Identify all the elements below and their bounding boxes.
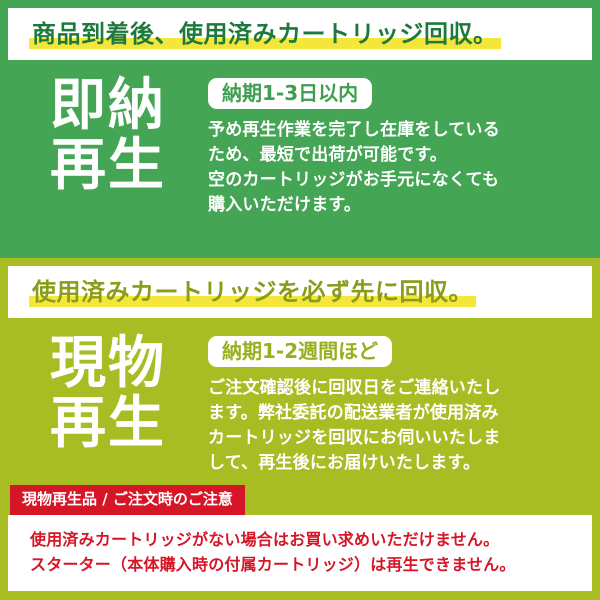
- description-line: 空のカートリッジがお手元になくても: [208, 168, 582, 193]
- section-sokuno: 商品到着後、使用済みカートリッジ回収。 即納 再生 納期1-3日以内 予め再生作…: [0, 0, 600, 258]
- description-line: して、再生後にお届けいたします。: [208, 451, 582, 476]
- big-label-line-1: 現物: [8, 334, 208, 394]
- big-label-line-2: 再生: [8, 136, 208, 196]
- section-genbutsu: 使用済みカートリッジを必ず先に回収。 現物 再生 納期1-2週間ほど ご注文確認…: [0, 258, 600, 600]
- description-line: ため、最短で出荷が可能です。: [208, 143, 582, 168]
- description-line: ご注文確認後に回収日をご連絡いたし: [208, 376, 582, 401]
- section-olive-body: 現物 再生 納期1-2週間ほど ご注文確認後に回収日をご連絡いたし ます。弊社委…: [8, 318, 592, 485]
- description-line: 購入いただけます。: [208, 193, 582, 218]
- promo-poster: 商品到着後、使用済みカートリッジ回収。 即納 再生 納期1-3日以内 予め再生作…: [0, 0, 600, 600]
- big-label-line-2: 再生: [8, 394, 208, 454]
- section-green-detail: 納期1-3日以内 予め再生作業を完了し在庫をしている ため、最短で出荷が可能です…: [208, 74, 592, 218]
- notice-line: スターター（本体購入時の付属カートリッジ）は再生できません。: [30, 552, 592, 578]
- section-olive-detail: 納期1-2週間ほど ご注文確認後に回収日をご連絡いたし ます。弊社委託の配送業者…: [208, 332, 592, 476]
- description-line: 予め再生作業を完了し在庫をしている: [208, 118, 582, 143]
- notice-card: 使用済みカートリッジがない場合はお買い求めいただけません。 スターター（本体購入…: [8, 515, 592, 591]
- notice-line: 使用済みカートリッジがない場合はお買い求めいただけません。: [30, 527, 592, 553]
- delivery-time-badge-olive: 納期1-2週間ほど: [208, 336, 392, 367]
- delivery-time-badge-green: 納期1-3日以内: [208, 78, 372, 109]
- section-olive-big-label: 現物 再生: [8, 332, 208, 455]
- notice-badge: 現物再生品 / ご注文時のご注意: [10, 485, 245, 515]
- section-green-heading-text: 商品到着後、使用済みカートリッジ回収。: [32, 22, 498, 46]
- description-line: カートリッジを回収にお伺いいたしま: [208, 426, 582, 451]
- section-green-body: 即納 再生 納期1-3日以内 予め再生作業を完了し在庫をしている ため、最短で出…: [8, 60, 592, 258]
- description-line: ます。弊社委託の配送業者が使用済み: [208, 401, 582, 426]
- section-olive-heading-card: 使用済みカートリッジを必ず先に回収。: [8, 266, 592, 318]
- section-green-big-label: 即納 再生: [8, 74, 208, 197]
- section-green-heading-card: 商品到着後、使用済みカートリッジ回収。: [8, 8, 592, 60]
- big-label-line-1: 即納: [8, 76, 208, 136]
- section-olive-description: ご注文確認後に回収日をご連絡いたし ます。弊社委託の配送業者が使用済み カートリ…: [208, 376, 582, 476]
- section-green-description: 予め再生作業を完了し在庫をしている ため、最短で出荷が可能です。 空のカートリッ…: [208, 118, 582, 218]
- section-olive-heading-text: 使用済みカートリッジを必ず先に回収。: [32, 280, 473, 304]
